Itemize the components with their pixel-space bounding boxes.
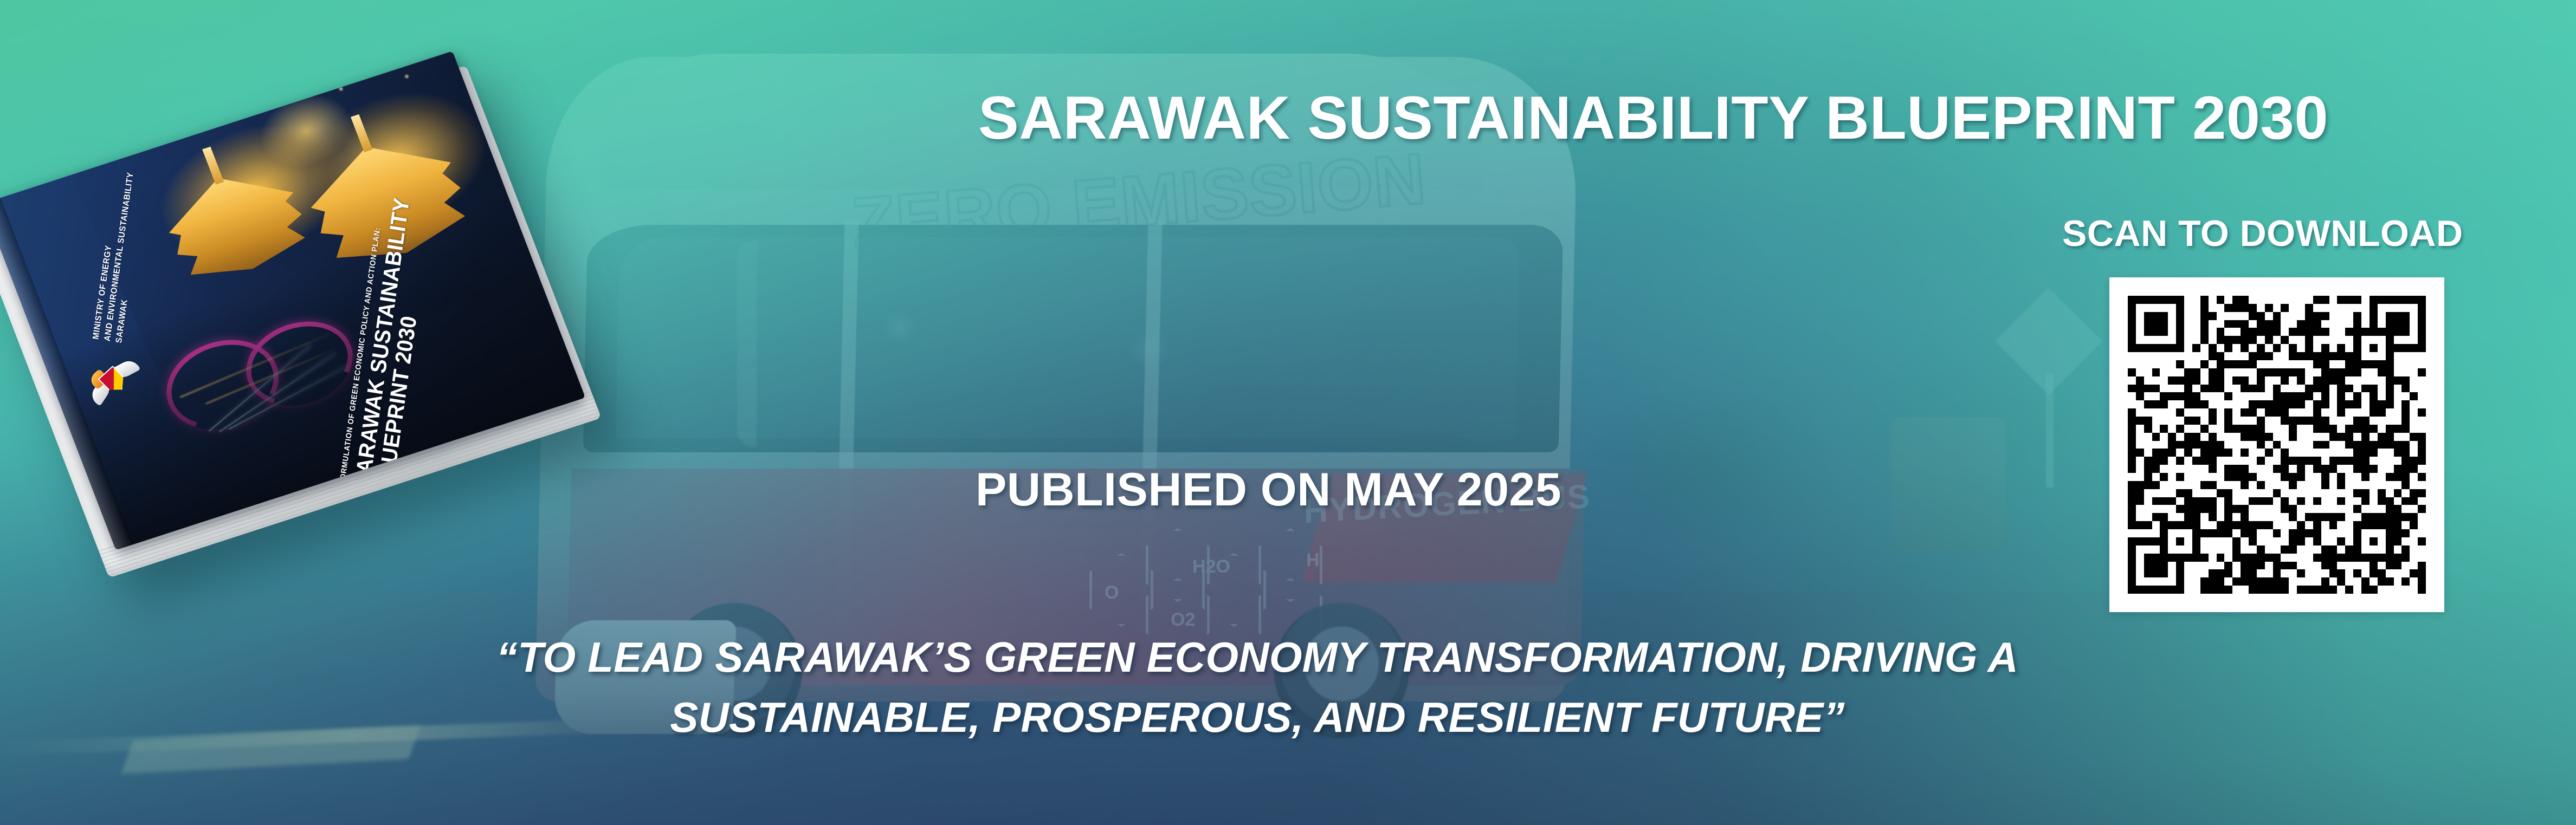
promo-banner: ZERO EMISSION HYDROGEN BUS O H2O H O2 xyxy=(0,0,2576,825)
scan-to-download-label: SCAN TO DOWNLOAD xyxy=(2062,212,2463,255)
qr-code[interactable] xyxy=(2109,277,2444,612)
vision-tagline: “TO LEAD SARAWAK’S GREEN ECONOMY TRANSFO… xyxy=(490,627,2024,748)
publication-date-label: PUBLISHED ON MAY 2025 xyxy=(976,463,1561,517)
qr-code-matrix xyxy=(2128,296,2426,594)
page-title: SARAWAK SUSTAINABILITY BLUEPRINT 2030 xyxy=(978,84,2333,152)
book-mockup: MINISTRY OF ENERGY AND ENVIRONMENTAL SUS… xyxy=(70,65,797,677)
book-cover: MINISTRY OF ENERGY AND ENVIRONMENTAL SUS… xyxy=(0,51,585,550)
